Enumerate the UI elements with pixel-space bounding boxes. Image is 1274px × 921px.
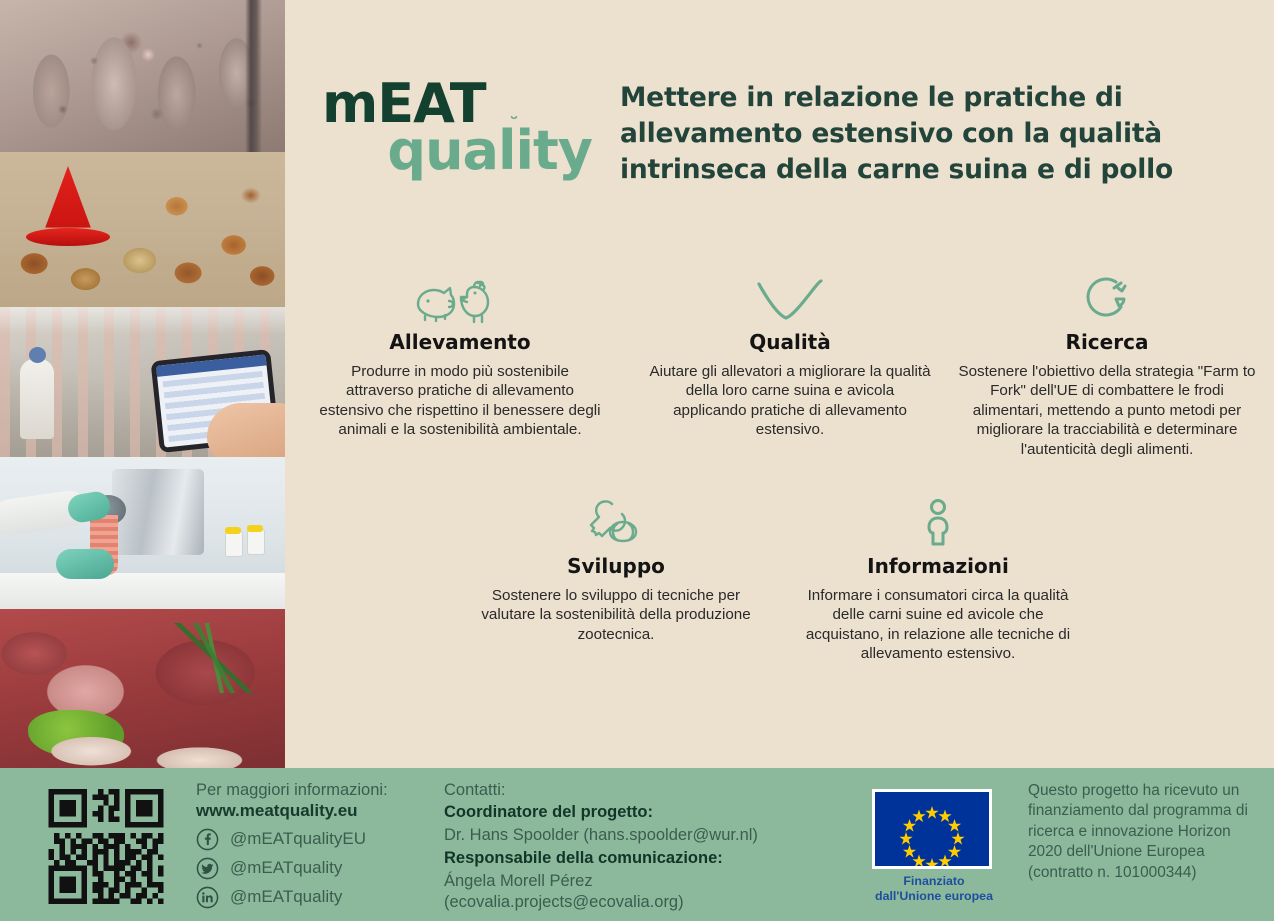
chickens-photo — [0, 152, 285, 307]
feature-body: Sostenere l'obiettivo della strategia "F… — [958, 362, 1256, 459]
contacts-column: Contatti: Coordinatore del progetto: Dr.… — [444, 780, 844, 914]
feature-allevamento: Allevamento Produrre in modo più sosteni… — [318, 268, 602, 440]
photo-strip — [0, 0, 285, 768]
lettuce-leaf — [28, 710, 124, 758]
qr-code[interactable] — [36, 789, 176, 904]
comms-name: Ángela Morell Pérez — [444, 871, 844, 892]
raw-meat-photo — [0, 609, 285, 768]
pigs-photo — [0, 0, 285, 152]
comms-label: Responsabile della comunicazione: — [444, 847, 844, 871]
feature-sviluppo: Sviluppo Sostenere lo sviluppo di tecnic… — [478, 492, 754, 644]
social-facebook[interactable]: @mEATqualityEU — [196, 828, 436, 851]
hand — [207, 403, 285, 457]
feature-body: Sostenere lo sviluppo di tecniche per va… — [478, 586, 754, 644]
breve-accent-icon: ˘ — [509, 116, 518, 135]
logo-quality-text: quality — [387, 119, 592, 182]
rosemary-sprig — [171, 623, 261, 693]
feature-body: Informare i consumatori circa la qualità… — [798, 586, 1078, 664]
linkedin-handle: @mEATquality — [230, 887, 342, 907]
linkedin-icon — [196, 886, 219, 909]
research-circle-icon — [958, 268, 1256, 324]
twitter-icon — [196, 857, 219, 880]
feature-title: Allevamento — [318, 330, 602, 354]
sample-vial — [225, 531, 243, 557]
website-link[interactable]: www.meatquality.eu — [196, 801, 436, 821]
more-info-column: Per maggiori informazioni: www.meatquali… — [196, 780, 436, 915]
more-info-label: Per maggiori informazioni: — [196, 780, 436, 801]
coordinator-label: Coordinatore del progetto: — [444, 801, 844, 825]
feature-informazioni: Informazioni Informare i consumatori cir… — [798, 492, 1078, 664]
feature-title: Informazioni — [798, 554, 1078, 578]
sample-vial — [247, 529, 265, 555]
feature-body: Produrre in modo più sostenibile attrave… — [318, 362, 602, 440]
social-twitter[interactable]: @mEATquality — [196, 857, 436, 880]
person-icon — [798, 492, 1078, 548]
feature-qualita: Qualità Aiutare gli allevatori a miglior… — [648, 268, 932, 440]
coordinator-name[interactable]: Dr. Hans Spoolder (hans.spoolder@wur.nl) — [444, 825, 844, 846]
comms-email[interactable]: (ecovalia.projects@ecovalia.org) — [444, 892, 844, 913]
social-linkedin[interactable]: @mEATquality — [196, 886, 436, 909]
eu-caption-line2: dall'Unione europea — [872, 889, 996, 904]
drumstick-meat-icon — [478, 492, 754, 548]
worker-figure — [20, 359, 54, 439]
eu-caption-line1: Finanziato — [872, 874, 996, 889]
feature-title: Ricerca — [958, 330, 1256, 354]
laboratory-photo — [0, 457, 285, 609]
feeder-cone — [38, 166, 98, 236]
meat-grinder — [112, 469, 204, 555]
page-title: Mettere in relazione le pratiche di alle… — [620, 80, 1220, 187]
processing-plant-photo — [0, 307, 285, 457]
feeder-pan — [26, 228, 110, 246]
eu-funding-text: Questo progetto ha ricevuto un finanziam… — [1028, 781, 1254, 883]
twitter-handle: @mEATquality — [230, 858, 342, 878]
lab-bench — [0, 573, 285, 609]
feature-body: Aiutare gli allevatori a migliorare la q… — [648, 362, 932, 440]
pig-chicken-icon — [318, 268, 602, 324]
facebook-icon — [196, 828, 219, 851]
contacts-label: Contatti: — [444, 780, 844, 801]
poster: mEAT quality ˘ Mettere in relazione le p… — [0, 0, 1274, 921]
logo: mEAT quality ˘ — [322, 78, 592, 177]
feature-title: Qualità — [648, 330, 932, 354]
logo-quality: quality ˘ — [322, 125, 592, 176]
feature-ricerca: Ricerca Sostenere l'obiettivo della stra… — [958, 268, 1256, 459]
eu-flag — [872, 789, 992, 869]
facebook-handle: @mEATqualityEU — [230, 829, 366, 849]
eu-caption: Finanziato dall'Unione europea — [872, 874, 996, 904]
glove-right — [56, 549, 114, 579]
checkmark-icon — [648, 268, 932, 324]
feature-title: Sviluppo — [478, 554, 754, 578]
eu-funding-badge: Finanziato dall'Unione europea — [872, 789, 996, 904]
